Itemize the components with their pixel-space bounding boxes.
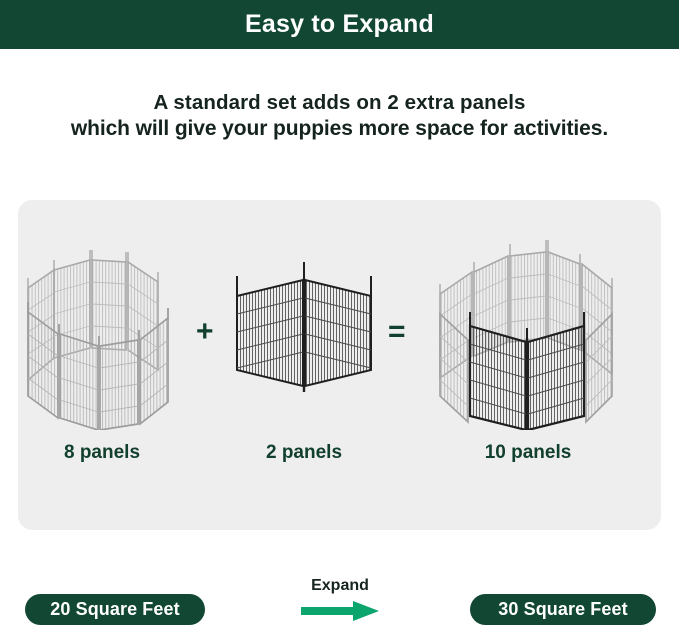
subtitle-line-2: which will give your puppies more space … xyxy=(0,116,679,142)
pen-group-2-panels: 2 panels xyxy=(225,222,383,462)
pen-label-2-panels: 2 panels xyxy=(266,443,342,462)
page-title: Easy to Expand xyxy=(245,12,434,37)
status-badge-30-square-feet: 30 Square Feet xyxy=(470,594,656,625)
octagonal-pen-8-panels-icon xyxy=(22,222,182,437)
decagonal-pen-10-panels-icon xyxy=(428,222,628,437)
subtitle-line-1: A standard set adds on 2 extra panels xyxy=(0,90,679,116)
expand-indicator: Expand xyxy=(276,578,404,621)
expand-label: Expand xyxy=(311,578,369,594)
arrow-right-icon xyxy=(301,601,379,621)
pen-group-8-panels: 8 panels xyxy=(22,222,182,462)
equals-operator-icon: = xyxy=(388,317,406,347)
header-band: Easy to Expand xyxy=(0,0,679,49)
pen-group-10-panels: 10 panels xyxy=(428,222,628,462)
pen-label-10-panels: 10 panels xyxy=(485,443,572,462)
status-badge-20-square-feet: 20 Square Feet xyxy=(25,594,205,625)
pen-label-8-panels: 8 panels xyxy=(64,443,140,462)
subtitle-block: A standard set adds on 2 extra panels wh… xyxy=(0,90,679,142)
two-folded-panels-icon xyxy=(225,222,383,437)
plus-operator-icon: + xyxy=(196,317,214,347)
